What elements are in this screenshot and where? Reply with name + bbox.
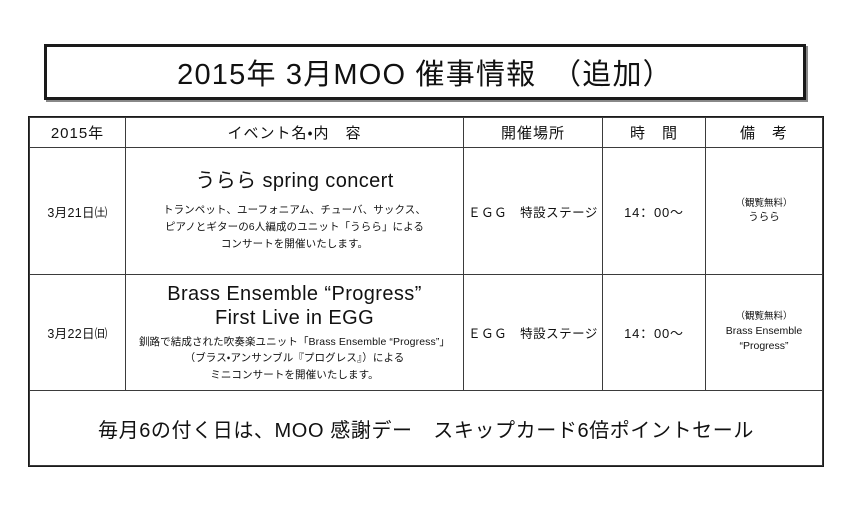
event-description: トランペット、ユーフォニアム、チューバ、サックス、 ピアノとギターの6人編成のユ…: [126, 202, 463, 253]
cell-time: 14：00～: [603, 148, 706, 275]
event-description-line: ミニコンサートを開催いたします。: [126, 367, 463, 384]
event-description-line: （ブラス・アンサンブル『プログレス』）による: [126, 350, 463, 367]
cell-note: （観覧無料） うらら: [706, 148, 823, 275]
event-title: Brass Ensemble “Progress” First Live in …: [126, 282, 463, 331]
performer-name-line: うらら: [706, 210, 822, 225]
event-description-line: ピアノとギターの6人編成のユニット「うらら」による: [126, 219, 463, 236]
page-title: 2015年 3月MOO 催事情報 （追加）: [177, 51, 673, 93]
event-schedule-table: 2015年 イベント名・内 容 開催場所 時 間 備 考 3月21日㈯ うらら …: [29, 117, 823, 466]
event-title-line: First Live in EGG: [126, 306, 463, 330]
admission-free-label: （観覧無料）: [706, 310, 822, 324]
performer-name-line: Brass Ensemble: [706, 324, 822, 339]
title-banner: 2015年 3月MOO 催事情報 （追加）: [44, 44, 806, 100]
cell-note: （観覧無料） Brass Ensemble “Progress”: [706, 275, 823, 391]
event-description-line: トランペット、ユーフォニアム、チューバ、サックス、: [126, 202, 463, 219]
cell-event: うらら spring concert トランペット、ユーフォニアム、チューバ、サ…: [126, 148, 464, 275]
admission-free-label: （観覧無料）: [706, 197, 822, 211]
table-header-row: 2015年 イベント名・内 容 開催場所 時 間 備 考: [30, 118, 823, 148]
cell-place: ＥＧＧ 特設ステージ: [464, 275, 603, 391]
cell-time: 14：00～: [603, 275, 706, 391]
event-description-line: コンサートを開催いたします。: [126, 236, 463, 253]
column-header-place: 開催場所: [464, 118, 603, 148]
cell-date: 3月21日㈯: [30, 148, 126, 275]
event-title-line: Brass Ensemble “Progress”: [126, 282, 463, 306]
column-header-event: イベント名・内 容: [126, 118, 464, 148]
table-footer-row: 毎月6の付く日は、MOO 感謝デー スキップカード6倍ポイントセール: [30, 391, 823, 466]
event-title: うらら spring concert: [126, 169, 463, 193]
event-description-line: 釧路で結成された吹奏楽ユニット「Brass Ensemble “Progress…: [126, 334, 463, 351]
column-header-time: 時 間: [603, 118, 706, 148]
column-header-date: 2015年: [30, 118, 126, 148]
event-title-line: うらら spring concert: [126, 169, 463, 193]
promo-message: 毎月6の付く日は、MOO 感謝デー スキップカード6倍ポイントセール: [30, 391, 823, 466]
table-row: 3月21日㈯ うらら spring concert トランペット、ユーフォニアム…: [30, 148, 823, 275]
table-row: 3月22日㈰ Brass Ensemble “Progress” First L…: [30, 275, 823, 391]
cell-place: ＥＧＧ 特設ステージ: [464, 148, 603, 275]
event-description: 釧路で結成された吹奏楽ユニット「Brass Ensemble “Progress…: [126, 334, 463, 384]
cell-event: Brass Ensemble “Progress” First Live in …: [126, 275, 464, 391]
cell-date: 3月22日㈰: [30, 275, 126, 391]
performer-name-line: “Progress”: [706, 339, 822, 354]
column-header-note: 備 考: [706, 118, 823, 148]
